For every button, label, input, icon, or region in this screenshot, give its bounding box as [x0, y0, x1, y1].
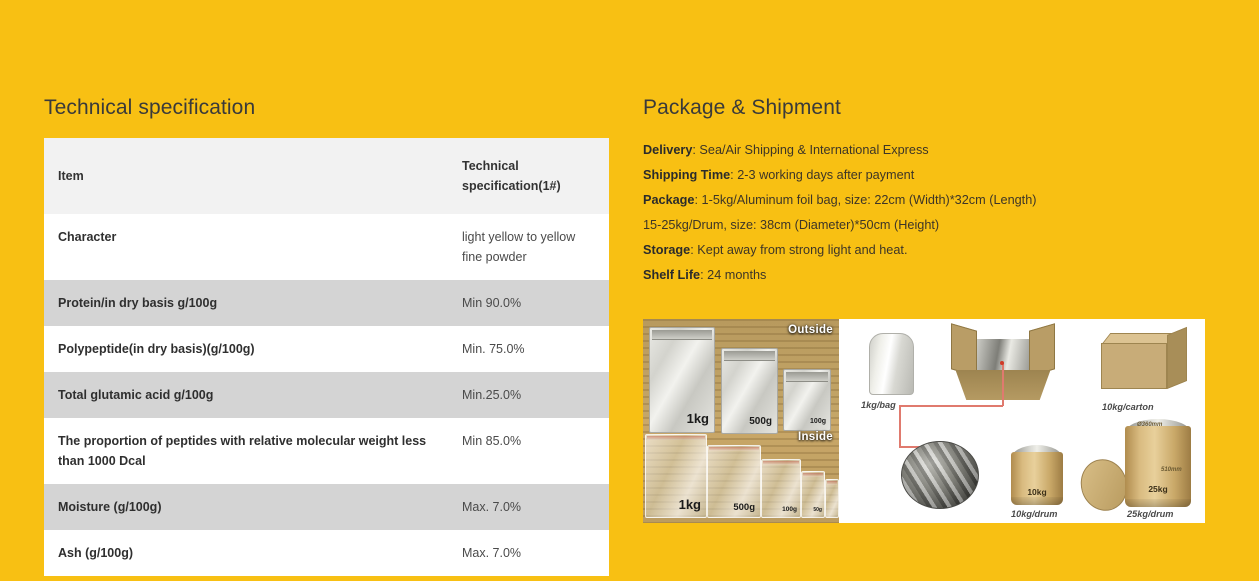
photo-bag-samples: Outside 1kg 500g 100g Inside 1kg 500g 10…	[643, 319, 839, 523]
leader-line-vertical-carton	[1002, 363, 1004, 406]
packaging-flow-diagram: 1kg/bag 10kg/carton	[839, 319, 1205, 523]
cell-value: Min 85.0%	[448, 418, 609, 484]
package-shipment-section: Package & Shipment Delivery: Sea/Air Shi…	[643, 94, 1208, 288]
table-header-row: Item Technical specification(1#)	[44, 138, 609, 214]
foil-bag-500g: 500g	[721, 348, 778, 434]
package-images-panel: Outside 1kg 500g 100g Inside 1kg 500g 10…	[643, 319, 1205, 523]
diagram-dimension-height: 510mm	[1161, 467, 1182, 473]
cell-item: Total glutamic acid g/100g	[44, 372, 448, 418]
cell-item: Moisture (g/100g)	[44, 484, 448, 530]
value-delivery: : Sea/Air Shipping & International Expre…	[692, 143, 928, 157]
cell-item: Character	[44, 214, 448, 280]
clear-bag-100g: 100g	[761, 459, 801, 518]
diagram-label-1kg-bag: 1kg/bag	[861, 400, 896, 410]
box-side-face	[1167, 327, 1187, 389]
package-detail-package: Package: 1-5kg/Aluminum foil bag, size: …	[643, 188, 1208, 213]
clear-bag-1kg: 1kg	[645, 434, 707, 518]
table-row: Protein/in dry basis g/100g Min 90.0%	[44, 280, 609, 326]
closed-carton-box-icon	[1101, 333, 1189, 391]
cell-value: light yellow to yellow fine powder	[448, 214, 609, 280]
clear-bag-50g: 50g	[801, 471, 825, 518]
cell-item: Protein/in dry basis g/100g	[44, 280, 448, 326]
foil-bag-1kg: 1kg	[649, 327, 715, 433]
cell-item: The proportion of peptides with relative…	[44, 418, 448, 484]
table-row: Character light yellow to yellow fine po…	[44, 214, 609, 280]
package-detail-shipping-time: Shipping Time: 2-3 working days after pa…	[643, 163, 1208, 188]
bag-weight-label: 500g	[749, 417, 772, 427]
drum-25kg-icon: 25kg	[1125, 419, 1191, 507]
leader-line-horizontal-top	[899, 405, 1003, 407]
package-detail-storage: Storage: Kept away from strong light and…	[643, 238, 1208, 263]
cell-value: Min. 75.0%	[448, 326, 609, 372]
clear-bag-500g: 500g	[707, 445, 761, 518]
technical-specification-table: Item Technical specification(1#) Charact…	[44, 138, 609, 576]
leader-dot-carton	[1000, 361, 1004, 365]
page-root: Technical specification Item Technical s…	[0, 0, 1259, 581]
foil-bag-100g: 100g	[783, 369, 831, 431]
bag-weight-label: 1kg	[687, 412, 709, 425]
diagram-label-10kg-carton: 10kg/carton	[1102, 402, 1154, 412]
package-detail-shelf-life: Shelf Life: 24 months	[643, 263, 1208, 288]
table-row: Moisture (g/100g) Max. 7.0%	[44, 484, 609, 530]
table-row: Ash (g/100g) Max. 7.0%	[44, 530, 609, 576]
label-shipping-time: Shipping Time	[643, 168, 730, 182]
cell-value: Max. 7.0%	[448, 530, 609, 576]
stand-up-pouch-icon	[869, 333, 914, 395]
cell-value: Max. 7.0%	[448, 484, 609, 530]
value-shipping-time: : 2-3 working days after payment	[730, 168, 914, 182]
clear-bag-10g	[825, 479, 839, 518]
package-detail-delivery: Delivery: Sea/Air Shipping & Internation…	[643, 138, 1208, 163]
cell-item: Ash (g/100g)	[44, 530, 448, 576]
photo-caption-inside: Inside	[798, 431, 833, 443]
leader-line-vertical-down	[899, 405, 901, 447]
label-shelf-life: Shelf Life	[643, 268, 700, 282]
technical-specification-section: Technical specification Item Technical s…	[44, 94, 609, 576]
cell-value: Min 90.0%	[448, 280, 609, 326]
package-detail-drum-size: 15-25kg/Drum, size: 38cm (Diameter)*50cm…	[643, 213, 1208, 238]
column-header-item: Item	[44, 138, 448, 214]
diagram-dimension-diameter: Ø360mm	[1137, 422, 1162, 428]
diagram-label-25kg-drum: 25kg/drum	[1127, 509, 1173, 519]
carton-flap-left	[951, 323, 977, 376]
label-package: Package	[643, 193, 695, 207]
table-body: Character light yellow to yellow fine po…	[44, 214, 609, 576]
table-row: Polypeptide(in dry basis)(g/100g) Min. 7…	[44, 326, 609, 372]
column-header-spec: Technical specification(1#)	[448, 138, 609, 214]
diagram-label-10kg-drum: 10kg/drum	[1011, 509, 1057, 519]
drum-weight-label: 10kg	[1011, 487, 1063, 497]
page-title-technical-specification: Technical specification	[44, 94, 609, 122]
photo-caption-outside: Outside	[788, 324, 833, 336]
page-title-package-shipment: Package & Shipment	[643, 94, 1208, 122]
foil-closeup-photo	[901, 441, 979, 509]
foil-sheen-texture	[902, 442, 978, 508]
bag-weight-label: 500g	[733, 503, 755, 513]
value-drum-size: 15-25kg/Drum, size: 38cm (Diameter)*50cm…	[643, 218, 939, 232]
table-row: Total glutamic acid g/100g Min.25.0%	[44, 372, 609, 418]
drum-base	[1011, 497, 1063, 505]
package-details-list: Delivery: Sea/Air Shipping & Internation…	[643, 138, 1208, 288]
bag-weight-label: 1kg	[679, 498, 701, 511]
bag-weight-label: 50g	[813, 508, 822, 513]
value-shelf-life: : 24 months	[700, 268, 766, 282]
cell-item: Polypeptide(in dry basis)(g/100g)	[44, 326, 448, 372]
label-storage: Storage	[643, 243, 690, 257]
bag-weight-label: 100g	[810, 418, 826, 425]
drum-weight-label: 25kg	[1125, 484, 1191, 494]
bag-weight-label: 100g	[782, 507, 797, 514]
carton-flap-right	[1029, 323, 1055, 376]
box-front-face	[1101, 343, 1167, 389]
drum-10kg-icon: 10kg	[1011, 445, 1063, 505]
cell-value: Min.25.0%	[448, 372, 609, 418]
value-storage: : Kept away from strong light and heat.	[690, 243, 907, 257]
label-delivery: Delivery	[643, 143, 692, 157]
table-row: The proportion of peptides with relative…	[44, 418, 609, 484]
value-package: : 1-5kg/Aluminum foil bag, size: 22cm (W…	[695, 193, 1037, 207]
drum-base	[1125, 499, 1191, 507]
